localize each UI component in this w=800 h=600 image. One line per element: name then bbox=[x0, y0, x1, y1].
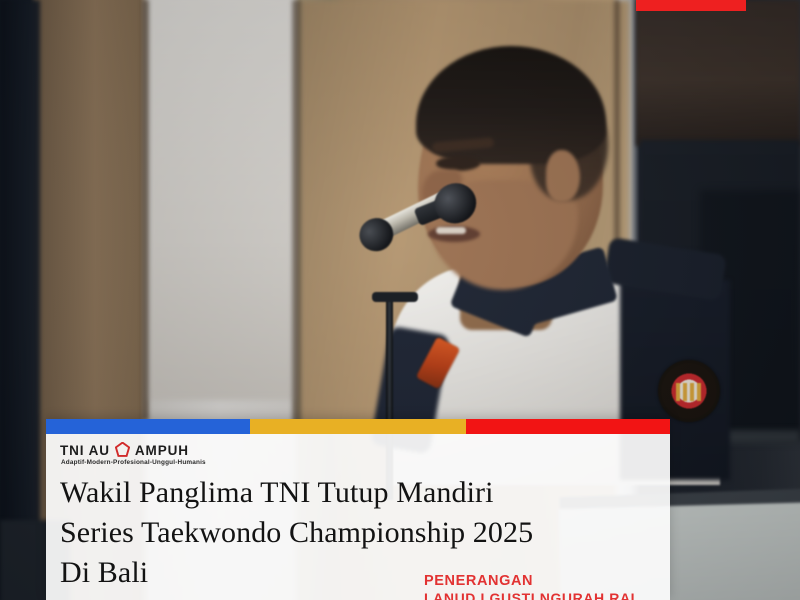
eye bbox=[436, 156, 480, 171]
headline-line-2: Series Taekwondo Championship 2025 bbox=[60, 513, 620, 553]
tricolor-segment-blue bbox=[46, 419, 250, 434]
caption-card: TNI AU AMPUH Adaptif-Modern-Profesional-… bbox=[46, 419, 670, 600]
speaker-figure bbox=[370, 30, 730, 480]
tricolor-segment-red bbox=[466, 419, 670, 434]
projection-screen bbox=[148, 0, 294, 400]
top-red-accent-bar bbox=[636, 0, 746, 11]
watermark-penerangan: PENERANGAN LANUD I GUSTI NGURAH RAI bbox=[424, 573, 670, 600]
tricolor-bar bbox=[46, 419, 670, 434]
wall-seam-center bbox=[292, 0, 301, 430]
watermark-line-2: LANUD I GUSTI NGURAH RAI bbox=[424, 590, 670, 600]
microphone-mount bbox=[372, 292, 418, 302]
pentagon-star-icon bbox=[115, 442, 130, 458]
brand-lockup: TNI AU AMPUH bbox=[46, 434, 670, 458]
watermark-line-1: PENERANGAN bbox=[424, 573, 670, 590]
headline-line-1: Wakil Panglima TNI Tutup Mandiri bbox=[60, 473, 620, 513]
wall-shadow-left bbox=[0, 0, 40, 600]
taekwondo-indonesia-badge-icon bbox=[658, 360, 720, 422]
ear bbox=[546, 150, 580, 202]
brand-tagline: Adaptif-Modern-Profesional-Unggul-Humani… bbox=[46, 458, 670, 466]
wall-seam-left bbox=[142, 0, 149, 420]
screenshot-root: TNI AU AMPUH Adaptif-Modern-Profesional-… bbox=[0, 0, 800, 600]
tricolor-segment-yellow bbox=[250, 419, 466, 434]
brand-text-ampuh: AMPUH bbox=[135, 443, 189, 458]
brand-text-tni-au: TNI AU bbox=[60, 443, 110, 458]
teeth bbox=[436, 227, 466, 234]
